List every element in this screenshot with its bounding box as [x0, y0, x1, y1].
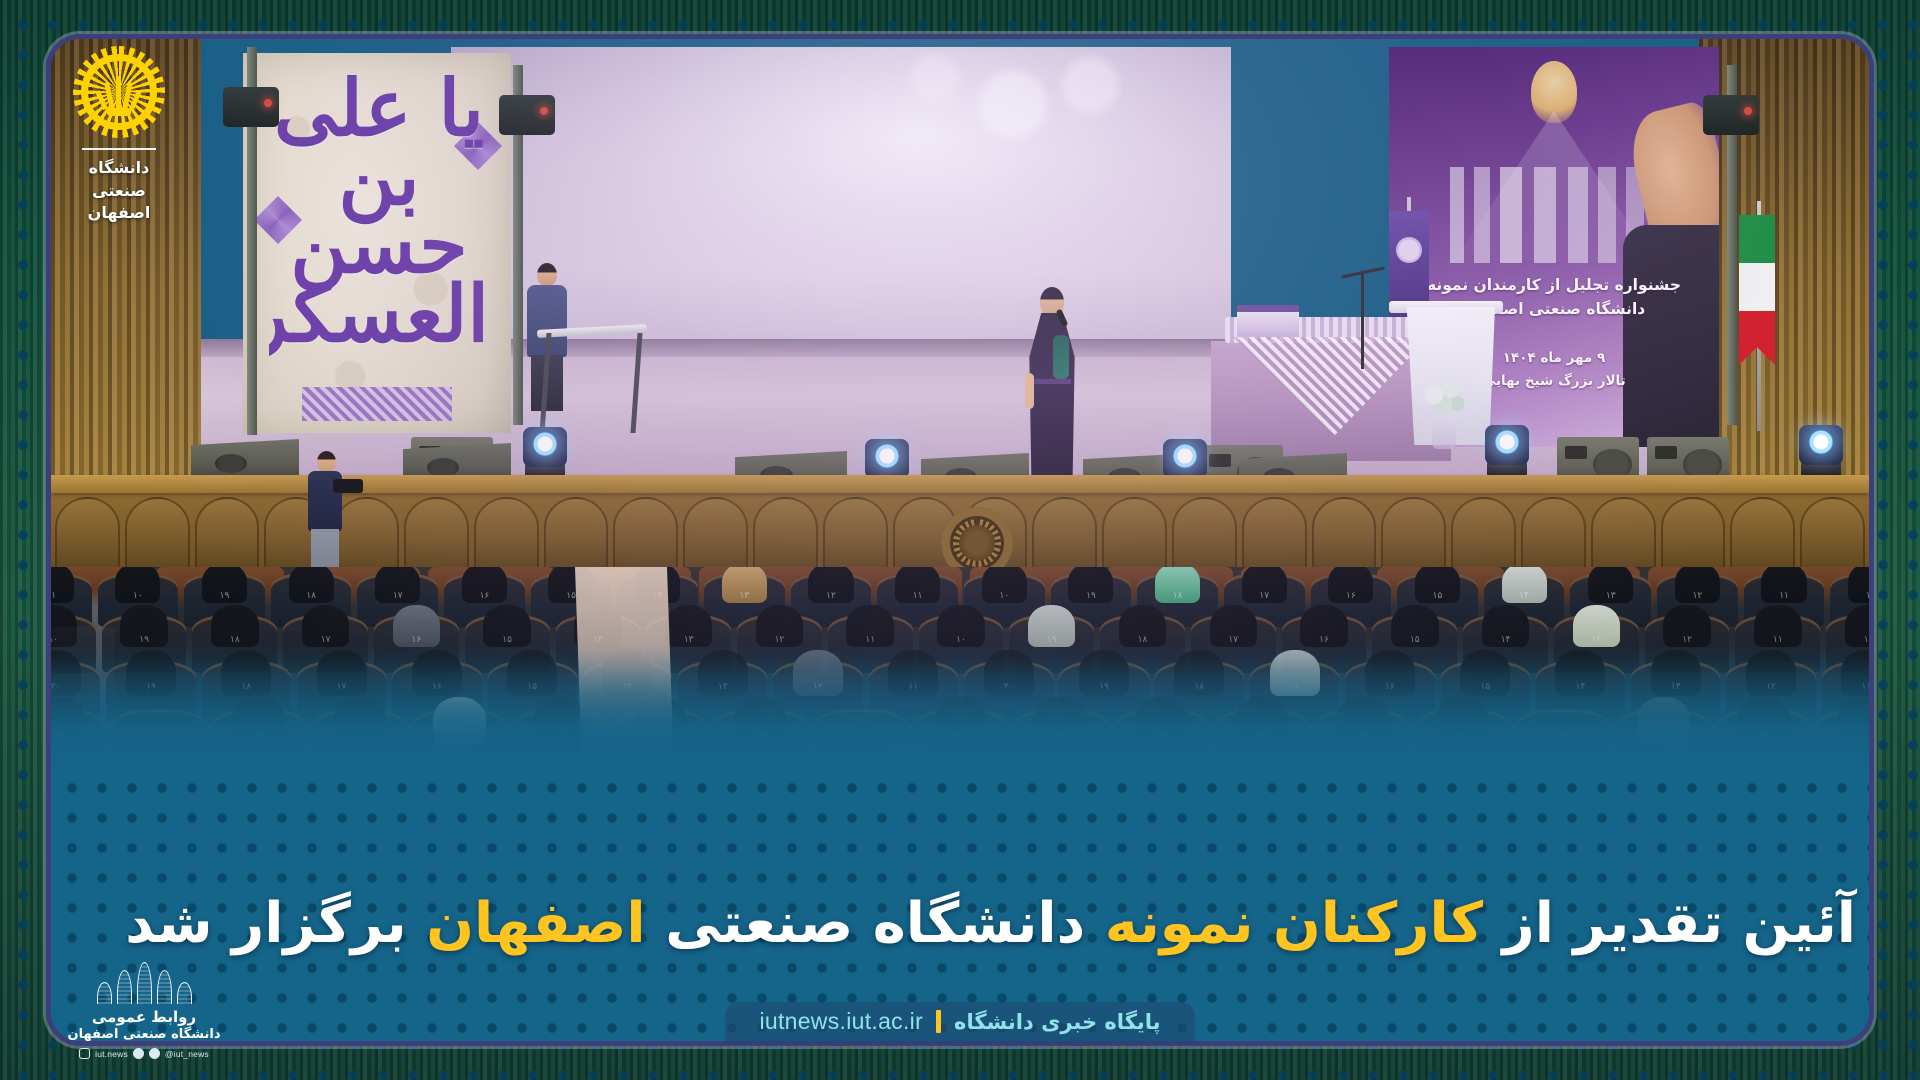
seat-number: ۱۶	[1282, 635, 1367, 645]
pr-social-handles: iut.news@iut_news	[58, 1048, 230, 1059]
university-name-line2: صنعتی	[64, 180, 174, 203]
seat-number: ۱۳	[1554, 635, 1639, 645]
seat-number: ۱۱	[1744, 591, 1825, 601]
news-site-url[interactable]: iutnews.iut.ac.ir	[759, 1008, 923, 1035]
seat-number: ۱۵	[465, 635, 550, 645]
seat-number: ۱۹	[1051, 591, 1132, 601]
seat-number: ۱۰	[1826, 635, 1869, 645]
seat-number: ۱۶	[374, 635, 459, 645]
seat-number: ۱۸	[271, 591, 352, 601]
public-relations-logo: روابط عمومی دانشگاه صنعتی اصفهان iut.new…	[58, 962, 230, 1059]
seat-number: ۱۵	[1372, 635, 1457, 645]
operator-head	[317, 451, 336, 473]
seat-number: ۱۲	[737, 635, 822, 645]
seat-number: ۱۴	[1463, 635, 1548, 645]
news-banner-canvas: یا علی بن حسن العسکری جشنواره تجلیل از ک…	[0, 0, 1920, 1080]
pr-logo-line2: دانشگاه صنعتی اصفهان	[58, 1027, 230, 1042]
iut-gear-emblem-icon	[73, 46, 165, 138]
seat-number: ۱۰	[51, 635, 96, 645]
seat-number: ۱۶	[444, 591, 525, 601]
gear-core-glyph	[95, 68, 143, 116]
footer-caption-pill: پایگاه خبری دانشگاه iutnews.iut.ac.ir	[725, 1002, 1194, 1044]
presenter-with-microphone	[1023, 287, 1081, 483]
seat-number: ۱۲	[791, 591, 872, 601]
seat-number: ۱۶	[1311, 591, 1392, 601]
headline-segment-0: آئین تقدیر از	[1483, 891, 1856, 956]
seat-number: ۱۰	[1830, 591, 1869, 601]
stage-light-fixture	[499, 95, 555, 135]
sio-se-pol-towers-icon	[84, 962, 204, 1004]
banner-bottom-ornament	[302, 387, 452, 421]
seat-number: ۱۳	[704, 591, 785, 601]
seat-number: ۱۱	[828, 635, 913, 645]
seat-number: ۱۷	[1224, 591, 1305, 601]
seat-number: ۱۵	[1397, 591, 1478, 601]
headline-segment-2: دانشگاه صنعتی	[646, 891, 1105, 956]
logo-divider	[82, 148, 156, 150]
banner-person-graphic	[1623, 225, 1719, 447]
blue-band-top-fade	[51, 645, 1869, 775]
university-logo-text: دانشگاه صنعتی اصفهان	[64, 157, 174, 225]
telegram-icon[interactable]	[133, 1048, 144, 1059]
headline-segment-1: کارکنان نمونه	[1105, 891, 1483, 956]
camera-gimbal-icon	[333, 479, 363, 493]
iran-flag	[1737, 215, 1777, 395]
seat-number: ۱۸	[1100, 635, 1185, 645]
presenter-arm	[1025, 373, 1034, 409]
pr-logo-line1: روابط عمومی	[58, 1008, 230, 1026]
social-handle: @iut_news	[165, 1049, 209, 1059]
light-lens	[1494, 429, 1520, 455]
seat-number: ۱۹	[102, 635, 187, 645]
social-handle: iut.news	[95, 1049, 128, 1059]
whatsapp-icon[interactable]	[149, 1048, 160, 1059]
moving-head-light	[521, 425, 569, 479]
seat-number: ۱۱	[877, 591, 958, 601]
calligraphy-banner: یا علی بن حسن العسکری	[243, 53, 511, 433]
seat-number: ۱۰	[964, 591, 1045, 601]
light-lens	[1172, 443, 1198, 469]
microphone-stand	[1361, 271, 1364, 369]
news-site-label: پایگاه خبری دانشگاه	[954, 1010, 1161, 1034]
seat-number: ۱۷	[1191, 635, 1276, 645]
event-banner-title-line1: جشنواره تجلیل از کارمندان نمونه	[1399, 273, 1709, 297]
vase-glass	[1432, 417, 1456, 449]
footer-caption: پایگاه خبری دانشگاه iutnews.iut.ac.ir	[0, 1002, 1920, 1044]
flower-vase	[1419, 377, 1469, 449]
performer-head	[537, 263, 557, 287]
seat-number: ۱۹	[184, 591, 265, 601]
university-name-line1: دانشگاه	[64, 157, 174, 180]
seat-number: ۱۱	[1735, 635, 1820, 645]
seat-number: ۱۳	[1570, 591, 1651, 601]
presenter-gown-accent	[1053, 335, 1069, 379]
seat-number: ۱۷	[357, 591, 438, 601]
flower-blooms	[1419, 377, 1469, 421]
university-name-line3: اصفهان	[64, 202, 174, 225]
seat-number: ۱۲	[1657, 591, 1738, 601]
stage-light-fixture	[1703, 95, 1759, 135]
seat-number: ۱۴	[1484, 591, 1565, 601]
seat-number: ۱۹	[1009, 635, 1094, 645]
instagram-icon[interactable]	[79, 1048, 90, 1059]
seat-number: ۱۸	[192, 635, 277, 645]
seat-number: ۱۰	[919, 635, 1004, 645]
presenter-belt	[1033, 379, 1071, 384]
gift-box	[1237, 305, 1299, 337]
moving-head-light	[1483, 423, 1531, 477]
table-cloth	[1233, 337, 1429, 435]
flag-cloth	[1739, 215, 1775, 365]
caption-separator-bar	[936, 1010, 941, 1033]
flag-emblem-icon	[1396, 237, 1422, 263]
headline-segment-4: برگزار شد	[125, 891, 426, 956]
light-lens	[874, 443, 900, 469]
seat-number: ۱۸	[1137, 591, 1218, 601]
moving-head-light	[1797, 423, 1845, 477]
seat-number: ۱۷	[283, 635, 368, 645]
seat-number: ۱۰	[98, 591, 179, 601]
light-lens	[1808, 429, 1834, 455]
university-logo: دانشگاه صنعتی اصفهان	[64, 46, 174, 225]
calligraphy-text: یا علی بن حسن العسکری	[269, 75, 489, 391]
page-title: آئین تقدیر از کارکنان نمونه دانشگاه صنعت…	[200, 880, 1856, 968]
light-lens	[532, 431, 558, 457]
headline-segment-3: اصفهان	[426, 891, 645, 956]
seat-number: ۱۲	[1645, 635, 1730, 645]
stage-light-fixture	[223, 87, 279, 127]
seat-number: ۱۱	[51, 591, 92, 601]
keyboard-stand-legs	[540, 333, 643, 433]
